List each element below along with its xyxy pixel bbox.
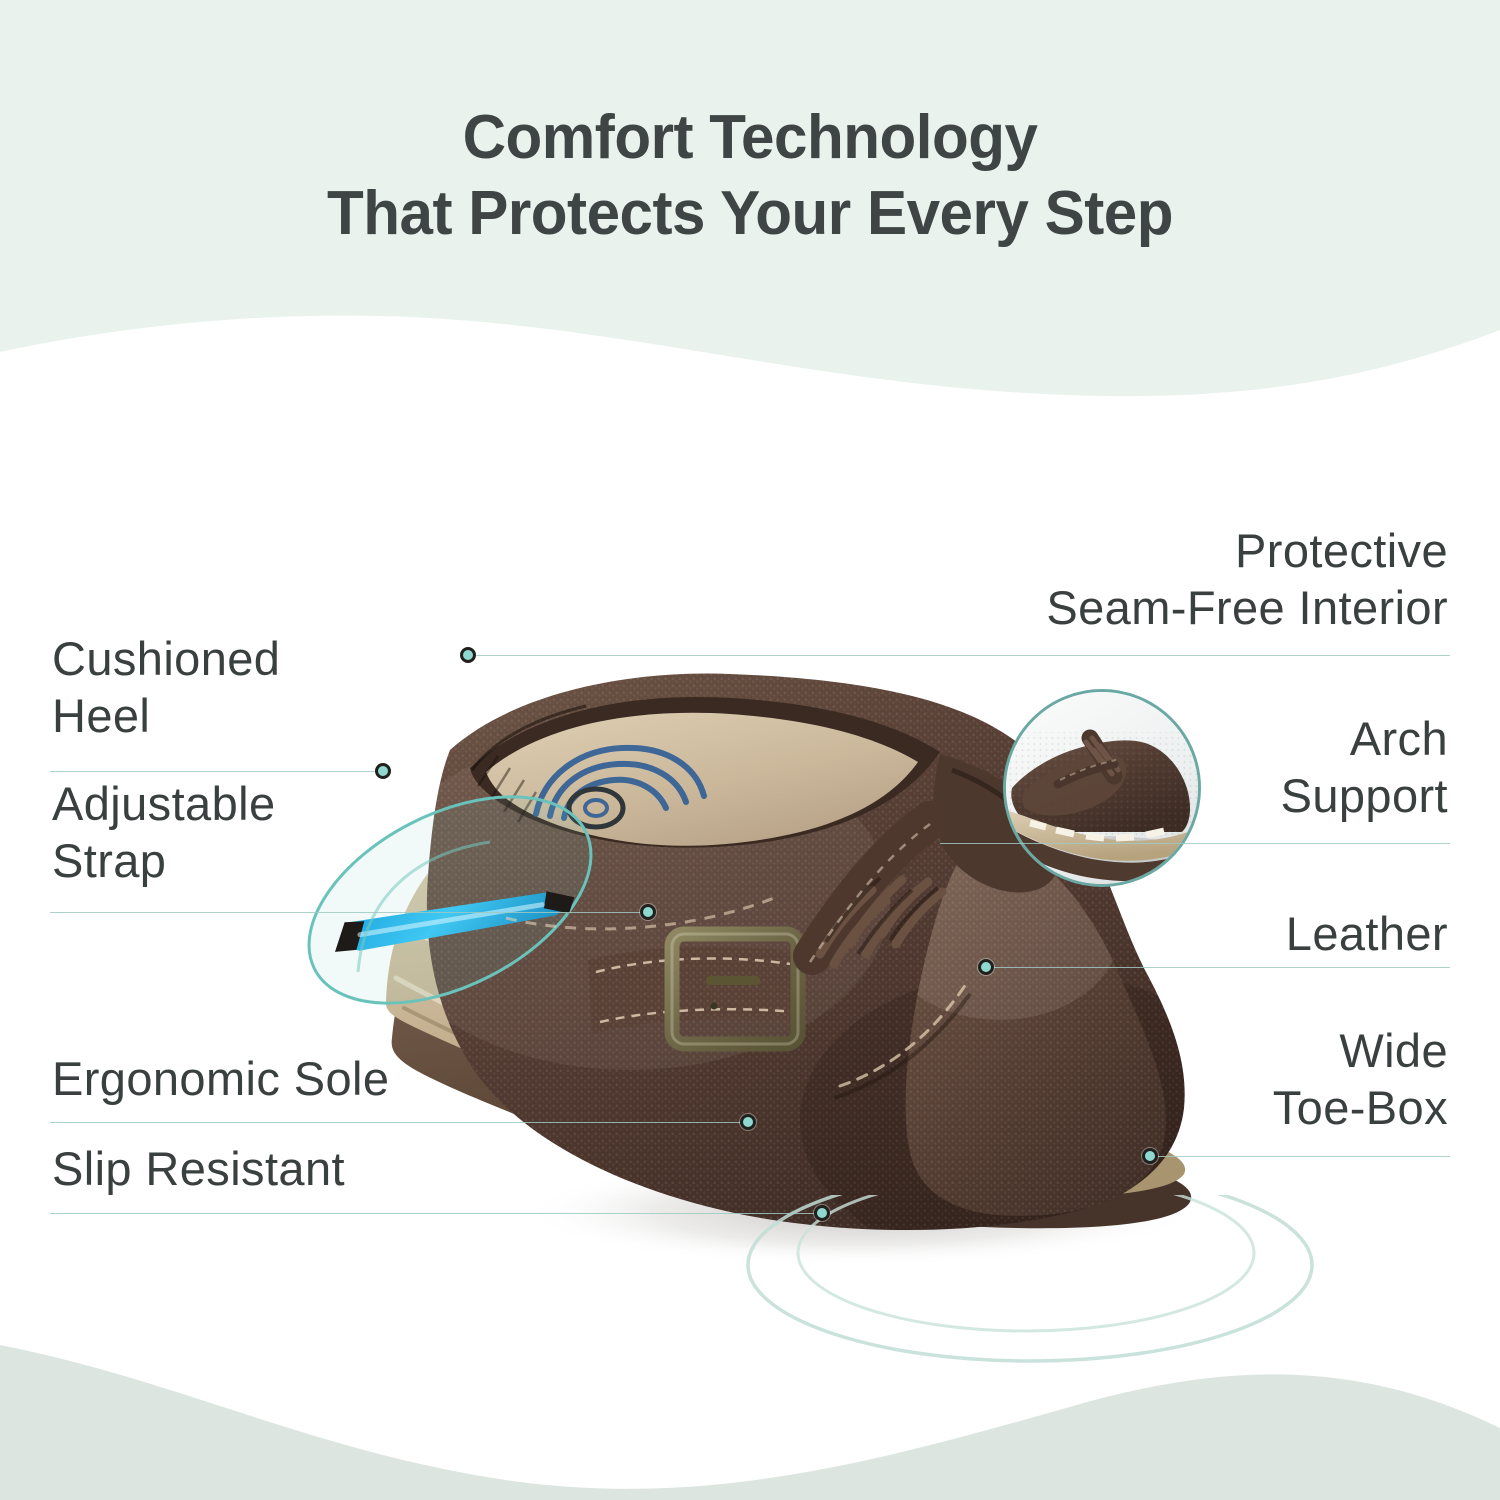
- callout-wide-toe-box-line-1: Wide: [928, 1022, 1448, 1079]
- connector-dot-wide-toe-box[interactable]: [1142, 1148, 1158, 1164]
- callout-cushioned-heel-line-2: Heel: [52, 687, 280, 744]
- connector-rule-cushioned-heel: [50, 771, 383, 772]
- callout-wide-toe-box: Wide Toe-Box: [928, 1022, 1448, 1136]
- bottom-wave-shape: [0, 1345, 1500, 1500]
- connector-rule-adjustable-strap: [50, 912, 648, 913]
- connector-dot-seam-free-interior[interactable]: [460, 647, 476, 663]
- callout-arch-support-line-2: Support: [928, 767, 1448, 824]
- connector-rule-wide-toe-box: [1158, 1156, 1450, 1157]
- connector-rule-leather: [994, 967, 1450, 968]
- callout-arch-support-line-1: Arch: [928, 710, 1448, 767]
- connector-rule-seam-free-interior: [476, 655, 1450, 656]
- callout-leather-line-1: Leather: [928, 905, 1448, 962]
- callout-seam-free-interior: Protective Seam-Free Interior: [748, 522, 1448, 636]
- callout-adjustable-strap: Adjustable Strap: [52, 775, 276, 889]
- callout-cushioned-heel: Cushioned Heel: [52, 630, 280, 744]
- connector-dot-cushioned-heel[interactable]: [375, 763, 391, 779]
- connector-dot-leather[interactable]: [978, 959, 994, 975]
- heading-line-2: That Protects Your Every Step: [23, 176, 1478, 252]
- callout-slip-resistant-line-1: Slip Resistant: [52, 1140, 345, 1197]
- page-title: Comfort Technology That Protects Your Ev…: [0, 100, 1500, 252]
- callout-slip-resistant: Slip Resistant: [52, 1140, 345, 1197]
- callout-wide-toe-box-line-2: Toe-Box: [928, 1079, 1448, 1136]
- callout-cushioned-heel-line-1: Cushioned: [52, 630, 280, 687]
- callout-ergonomic-sole: Ergonomic Sole: [52, 1050, 389, 1107]
- connector-rule-ergonomic-sole: [50, 1122, 748, 1123]
- callout-adjustable-strap-line-2: Strap: [52, 832, 276, 889]
- heading-line-1: Comfort Technology: [23, 100, 1478, 176]
- callout-seam-free-interior-line-2: Seam-Free Interior: [748, 579, 1448, 636]
- connector-dot-slip-resistant[interactable]: [814, 1205, 830, 1221]
- callout-arch-support: Arch Support: [928, 710, 1448, 824]
- connector-rule-slip-resistant: [50, 1213, 822, 1214]
- callout-ergonomic-sole-line-1: Ergonomic Sole: [52, 1050, 389, 1107]
- callout-adjustable-strap-line-1: Adjustable: [52, 775, 276, 832]
- callout-seam-free-interior-line-1: Protective: [748, 522, 1448, 579]
- connector-dot-adjustable-strap[interactable]: [640, 904, 656, 920]
- infographic-canvas: Comfort Technology That Protects Your Ev…: [0, 0, 1500, 1500]
- connector-dot-ergonomic-sole[interactable]: [740, 1114, 756, 1130]
- connector-rule-arch-support: [940, 843, 1450, 844]
- callout-leather: Leather: [928, 905, 1448, 962]
